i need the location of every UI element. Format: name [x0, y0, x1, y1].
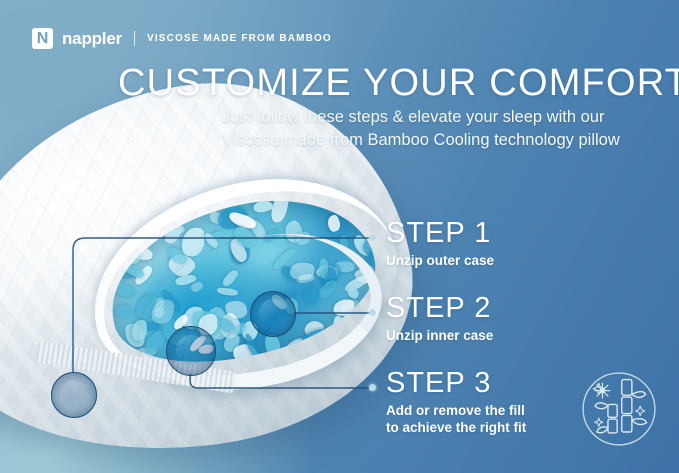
callout-hotspot-step2[interactable] [250, 291, 296, 337]
step-3-description: Add or remove the fill to achieve the ri… [386, 403, 526, 437]
step-item-2: STEP 2 Unzip inner case [386, 294, 493, 345]
step-3-title: STEP 3 [386, 369, 526, 398]
step-2-description: Unzip inner case [386, 328, 493, 345]
infographic-canvas: bamboo N nappler VISCOSE MADE FROM BAMBO… [0, 0, 679, 473]
callout-dot-step3 [369, 384, 376, 391]
step-1-description: Unzip outer case [386, 253, 494, 270]
callout-dot-step2 [369, 309, 376, 316]
callout-hotspot-step3[interactable] [166, 326, 216, 376]
page-title: CUSTOMIZE YOUR COMFORT [118, 62, 679, 105]
header-divider [134, 31, 135, 46]
brand-header: N nappler VISCOSE MADE FROM BAMBOO [32, 28, 332, 49]
callout-dot-step1 [369, 234, 376, 241]
step-item-1: STEP 1 Unzip outer case [386, 219, 494, 270]
step-2-title: STEP 2 [386, 294, 493, 323]
nappler-logo-icon: N [32, 28, 53, 49]
callout-hotspot-step1[interactable] [51, 372, 97, 418]
step-3-description-line2: to achieve the right fit [386, 420, 526, 437]
bamboo-cooling-badge-icon [573, 363, 665, 455]
brand-name: nappler [62, 29, 122, 49]
step-item-3: STEP 3 Add or remove the fill to achieve… [386, 369, 526, 437]
step-3-description-line1: Add or remove the fill [386, 403, 526, 420]
page-subtitle: Just follow these steps & elevate your s… [222, 106, 642, 153]
brand-tagline: VISCOSE MADE FROM BAMBOO [147, 33, 332, 44]
step-1-title: STEP 1 [386, 219, 494, 248]
